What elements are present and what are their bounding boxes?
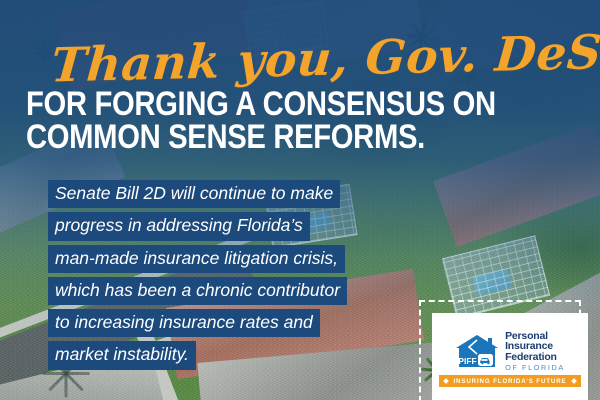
poster-canvas: Thank you, Gov. DeSantis, FOR FORGING A … [0,0,600,400]
logo-name-line-3: Federation [505,352,565,363]
piff-monogram: PIFF [459,356,477,366]
diamond-icon-right [571,378,577,384]
logo-subtitle: OF FLORIDA [505,364,565,371]
body-line: Senate Bill 2D will continue to make [48,180,340,208]
logo-row: PIFF Personal Insurance Federation OF FL… [455,331,565,372]
body-line: which has been a chronic contributor [48,277,347,305]
page-title: FOR FORGING A CONSENSUS ON COMMON SENSE … [26,88,430,155]
diamond-icon-left [444,378,450,384]
body-line: to increasing insurance rates and [48,309,320,337]
logo-wordmark: Personal Insurance Federation OF FLORIDA [505,331,565,372]
body-line: progress in addressing Florida’s [48,212,310,240]
logo-tagline-text: INSURING FLORIDA’S FUTURE [453,378,566,385]
body-line: man-made insurance litigation crisis, [48,245,345,273]
headline-line-2: COMMON SENSE REFORMS. [26,121,430,154]
logo-tagline-banner: INSURING FLORIDA’S FUTURE [439,375,581,387]
headline-line-1: FOR FORGING A CONSENSUS ON [26,88,430,121]
body-line: market instability. [48,341,196,369]
body-copy: Senate Bill 2D will continue to make pro… [48,180,448,374]
piff-logo-card: PIFF Personal Insurance Federation OF FL… [432,313,588,400]
house-icon: PIFF [455,334,499,368]
